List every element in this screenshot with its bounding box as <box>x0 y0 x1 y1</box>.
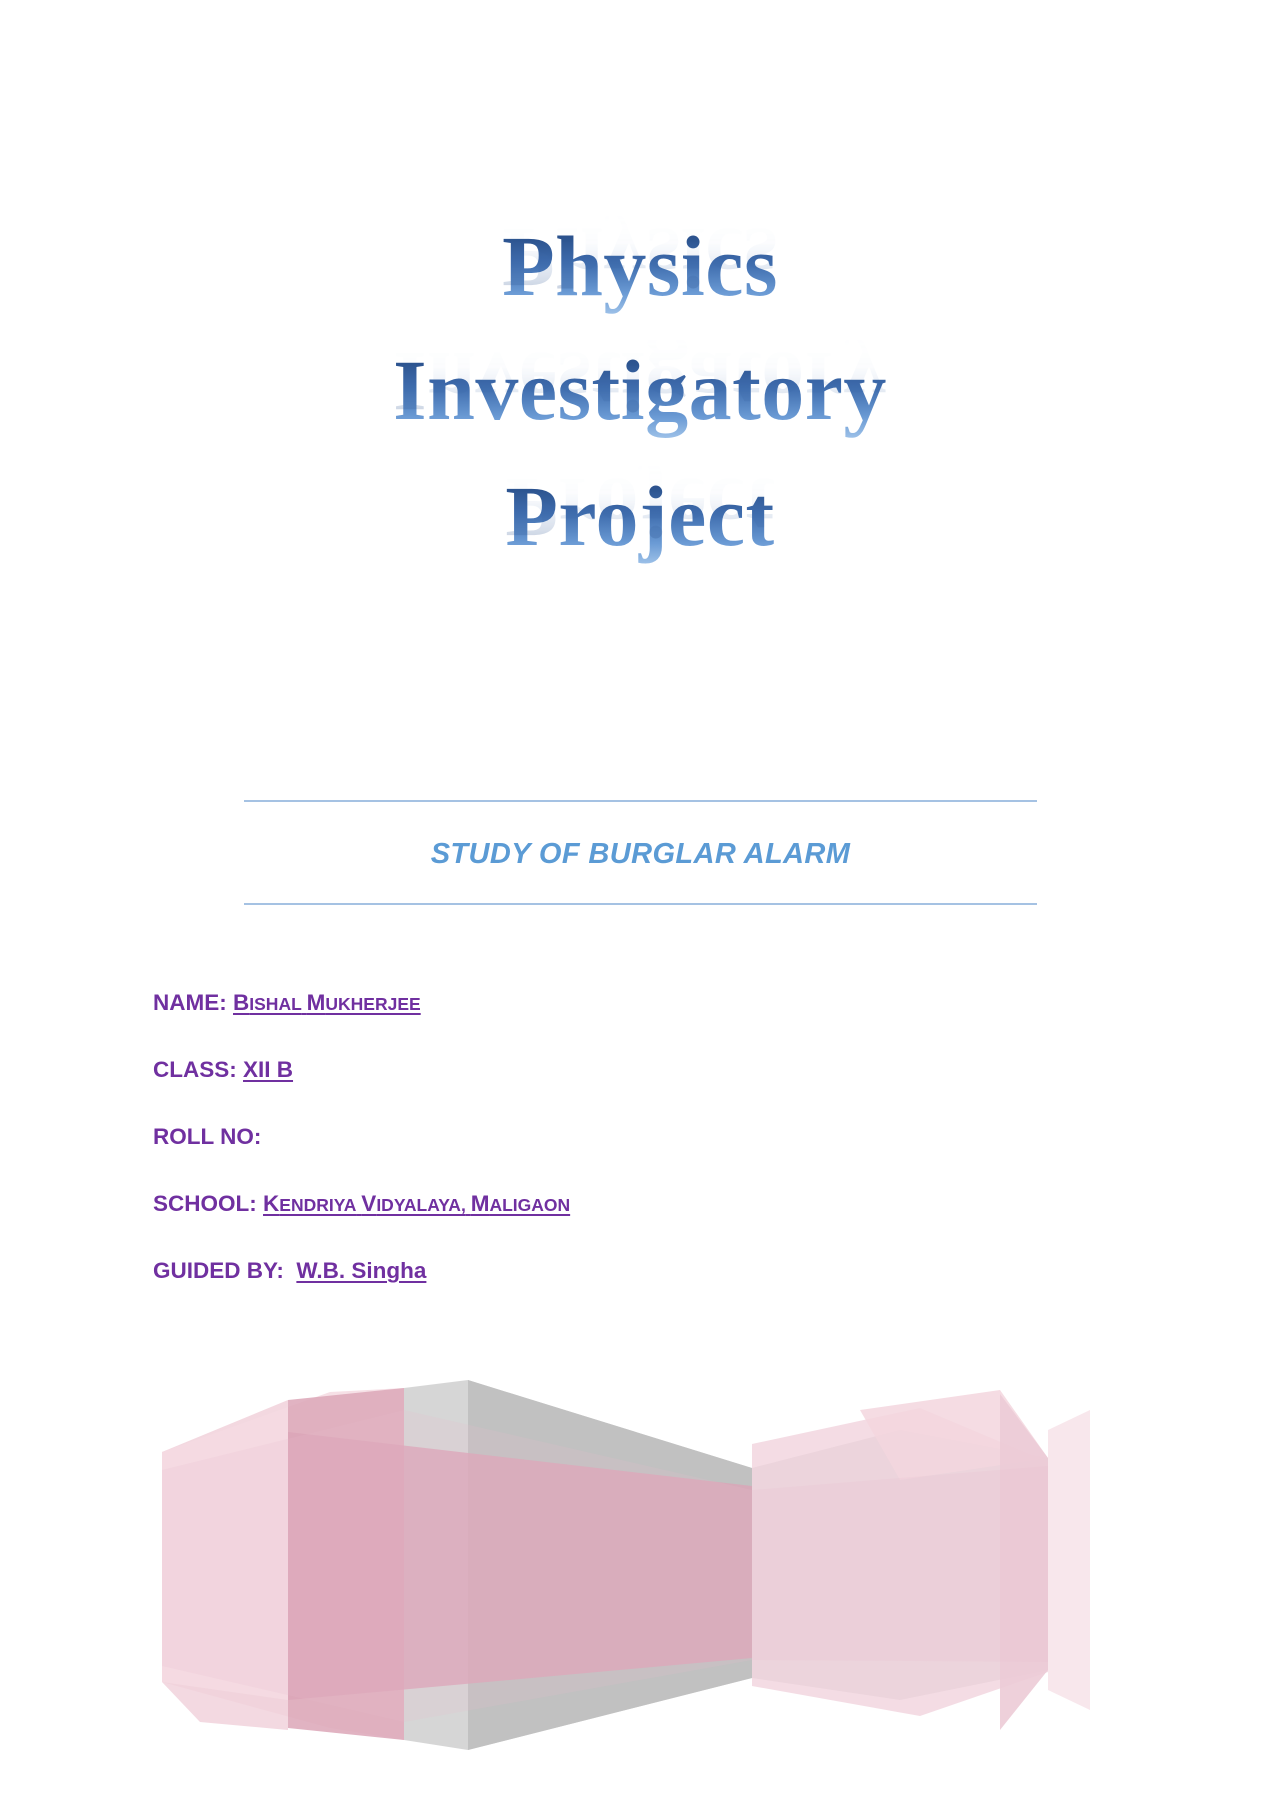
title-line-3: Project Project <box>0 468 1280 596</box>
title-line-2-text: Investigatory <box>0 342 1280 438</box>
title-line-3-text: Project <box>0 468 1280 564</box>
detail-value-guided-by: W.B. Singha <box>296 1258 426 1283</box>
detail-value-name: BISHAL MUKHERJEE <box>233 990 421 1015</box>
detail-label-name: NAME: <box>153 990 227 1015</box>
subtitle-rule-bottom <box>244 903 1037 905</box>
name-first-initial: B <box>233 990 249 1015</box>
detail-row-roll-no: ROLL NO: <box>153 1124 1053 1150</box>
school-part3-initial: M <box>471 1191 490 1216</box>
name-first-rest: ISHAL <box>249 994 302 1014</box>
detail-row-guided-by: GUIDED BY: W.B. Singha <box>153 1258 1053 1284</box>
title-line-2: Investigatory Investigatory <box>0 342 1280 470</box>
detail-value-school: KENDRIYA VIDYALAYA, MALIGAON <box>263 1191 570 1216</box>
detail-value-class: XII B <box>243 1057 293 1082</box>
school-part2-rest: IDYALAYA, <box>376 1195 466 1215</box>
subtitle-text: STUDY OF BURGLAR ALARM <box>244 802 1037 903</box>
detail-label-school: SCHOOL: <box>153 1191 257 1216</box>
detail-label-guided-by: GUIDED BY: <box>153 1258 284 1283</box>
title-line-1: Physics Physics <box>0 218 1280 346</box>
school-part2-initial: V <box>361 1191 376 1216</box>
detail-label-roll-no: ROLL NO: <box>153 1124 261 1149</box>
detail-row-class: CLASS: XII B <box>153 1057 1053 1083</box>
subtitle-block: STUDY OF BURGLAR ALARM <box>244 800 1037 905</box>
school-part3-rest: ALIGAON <box>489 1195 570 1215</box>
school-part1-initial: K <box>263 1191 279 1216</box>
title-line-1-text: Physics <box>0 218 1280 314</box>
name-last-rest: UKHERJEE <box>325 994 420 1014</box>
details-block: NAME: BISHAL MUKHERJEE CLASS: XII B ROLL… <box>153 990 1053 1325</box>
detail-row-name: NAME: BISHAL MUKHERJEE <box>153 990 1053 1016</box>
abstract-ribbon-decoration-icon <box>0 1370 1280 1770</box>
document-title: Physics Physics Investigatory Investigat… <box>0 218 1280 596</box>
cover-page: Physics Physics Investigatory Investigat… <box>0 0 1280 1811</box>
detail-label-class: CLASS: <box>153 1057 237 1082</box>
school-part1-rest: ENDRIYA <box>279 1195 356 1215</box>
detail-row-school: SCHOOL: KENDRIYA VIDYALAYA, MALIGAON <box>153 1191 1053 1217</box>
name-last-initial: M <box>307 990 326 1015</box>
